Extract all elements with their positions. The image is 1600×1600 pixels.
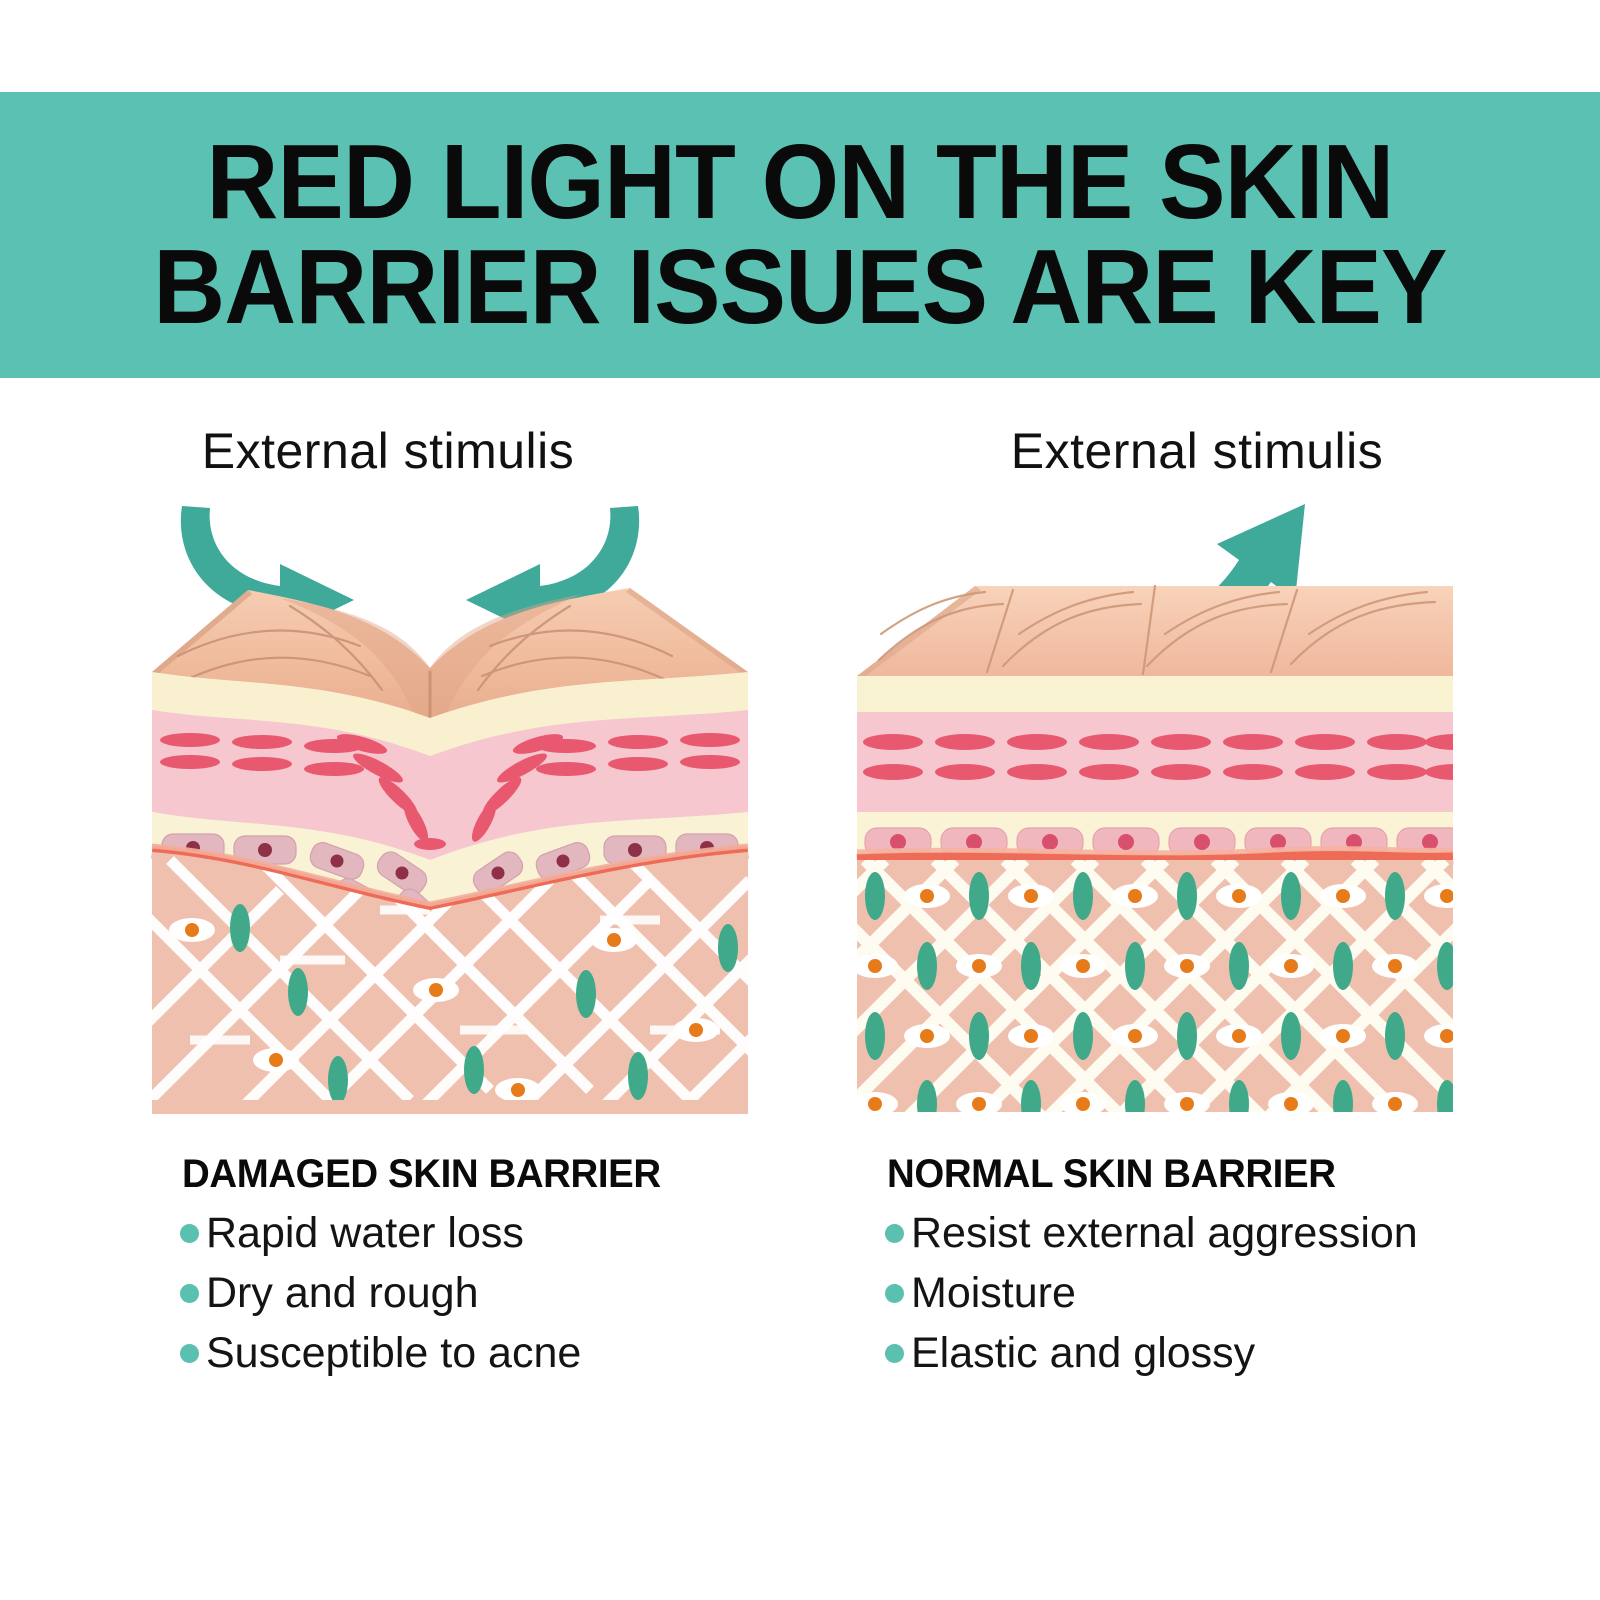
list-item: Rapid water loss [180,1212,581,1256]
epidermis-surface-normal [857,586,1453,678]
bullet-dot-icon [885,1224,904,1243]
granular-layer-normal [857,712,1453,812]
list-item: Elastic and glossy [885,1332,1418,1376]
dermis-layer-normal [835,860,1475,1130]
external-stimuli-label-left: External stimulis [68,422,708,480]
title-banner: RED LIGHT ON THE SKIN BARRIER ISSUES ARE… [0,92,1600,378]
bullet-text: Dry and rough [206,1272,479,1316]
bullet-dot-icon [885,1344,904,1363]
caption-damaged: DAMAGED SKIN BARRIER [182,1152,661,1197]
panel-damaged-skin: External stimulis [130,400,770,1400]
bullet-text: Resist external aggression [911,1212,1418,1256]
skin-cross-section-damaged [130,560,770,1130]
bullet-list-normal: Resist external aggression Moisture Elas… [885,1212,1418,1392]
list-item: Resist external aggression [885,1212,1418,1256]
page-title: RED LIGHT ON THE SKIN BARRIER ISSUES ARE… [116,130,1485,340]
bullet-text: Susceptible to acne [206,1332,581,1376]
bullet-text: Moisture [911,1272,1076,1316]
skin-cross-section-normal [835,560,1475,1130]
bullet-dot-icon [180,1344,199,1363]
list-item: Moisture [885,1272,1418,1316]
list-item: Dry and rough [180,1272,581,1316]
bullet-dot-icon [885,1284,904,1303]
caption-normal: NORMAL SKIN BARRIER [887,1152,1336,1197]
panel-normal-skin: External stimulis [835,400,1475,1400]
bullet-text: Rapid water loss [206,1212,524,1256]
bullet-list-damaged: Rapid water loss Dry and rough Susceptib… [180,1212,581,1392]
stratum-corneum-layer-normal [857,676,1453,712]
external-stimuli-label-right: External stimulis [877,422,1517,480]
bullet-dot-icon [180,1224,199,1243]
list-item: Susceptible to acne [180,1332,581,1376]
bullet-dot-icon [180,1284,199,1303]
infographic-page: RED LIGHT ON THE SKIN BARRIER ISSUES ARE… [0,0,1600,1600]
bullet-text: Elastic and glossy [911,1332,1255,1376]
